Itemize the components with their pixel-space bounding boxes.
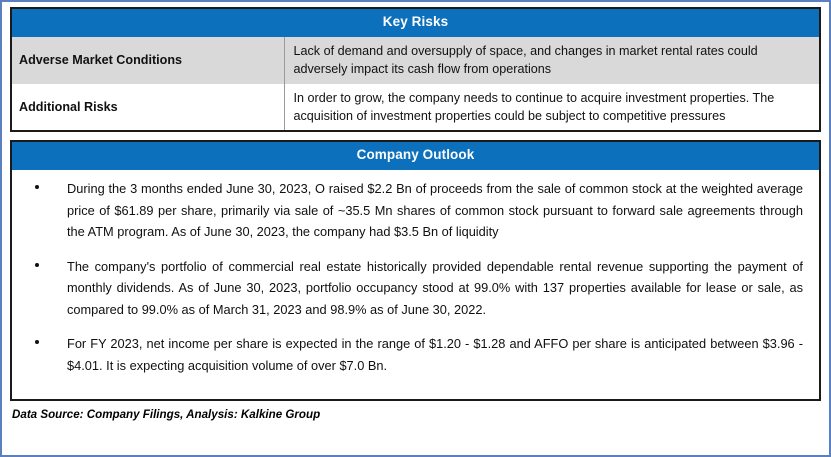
company-outlook-card: Company Outlook During the 3 months ende… <box>10 140 821 401</box>
list-item: The company's portfolio of commercial re… <box>20 256 807 320</box>
table-row: Adverse Market Conditions Lack of demand… <box>12 37 819 84</box>
data-source-note: Data Source: Company Filings, Analysis: … <box>10 408 821 422</box>
risk-description: Lack of demand and oversupply of space, … <box>284 37 819 84</box>
list-item-text: For FY 2023, net income per share is exp… <box>67 336 803 372</box>
outlook-bullet-list: During the 3 months ended June 30, 2023,… <box>20 178 807 376</box>
bullet-icon <box>35 185 39 189</box>
risk-label: Adverse Market Conditions <box>12 37 284 84</box>
risk-description: In order to grow, the company needs to c… <box>284 84 819 131</box>
bullet-icon <box>35 340 39 344</box>
risk-label: Additional Risks <box>12 84 284 131</box>
company-outlook-body: During the 3 months ended June 30, 2023,… <box>12 170 819 399</box>
list-item-text: During the 3 months ended June 30, 2023,… <box>67 181 803 239</box>
report-page: Key Risks Adverse Market Conditions Lack… <box>0 0 831 457</box>
list-item: During the 3 months ended June 30, 2023,… <box>20 178 807 242</box>
page-content: Key Risks Adverse Market Conditions Lack… <box>2 2 829 455</box>
key-risks-table: Adverse Market Conditions Lack of demand… <box>12 37 819 131</box>
company-outlook-header: Company Outlook <box>12 142 819 170</box>
list-item-text: The company's portfolio of commercial re… <box>67 259 803 317</box>
bullet-icon <box>35 263 39 267</box>
key-risks-card: Key Risks Adverse Market Conditions Lack… <box>10 7 821 132</box>
list-item: For FY 2023, net income per share is exp… <box>20 333 807 376</box>
key-risks-header: Key Risks <box>12 9 819 37</box>
table-row: Additional Risks In order to grow, the c… <box>12 84 819 131</box>
